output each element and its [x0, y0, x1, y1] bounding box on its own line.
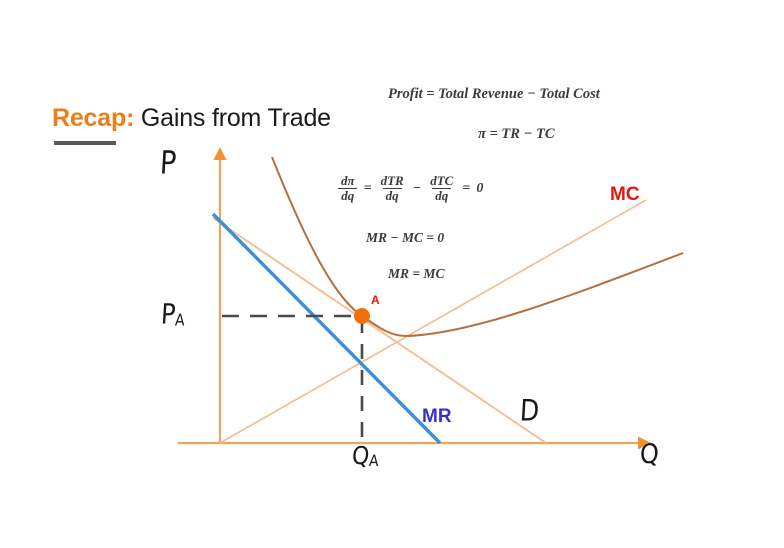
equilibrium-point-marker — [354, 308, 370, 324]
slide-canvas: Recap: Gains from Trade Profit = Total R… — [0, 0, 784, 548]
equilibrium-point-label: A — [371, 293, 380, 307]
curve-label-marginal-revenue: MR — [422, 406, 452, 428]
curve-label-demand: D — [519, 393, 540, 427]
axis-label-quantity: Q — [639, 437, 659, 471]
curve-marginal-revenue — [213, 214, 440, 443]
monopoly-diagram — [0, 0, 784, 548]
axis-label-quantity-equilibrium: QA — [351, 443, 380, 471]
curve-demand — [213, 218, 546, 443]
axis-label-price: P — [159, 145, 177, 182]
curve-label-marginal-cost: MC — [610, 184, 640, 206]
axis-label-price-equilibrium: PA — [160, 298, 186, 330]
